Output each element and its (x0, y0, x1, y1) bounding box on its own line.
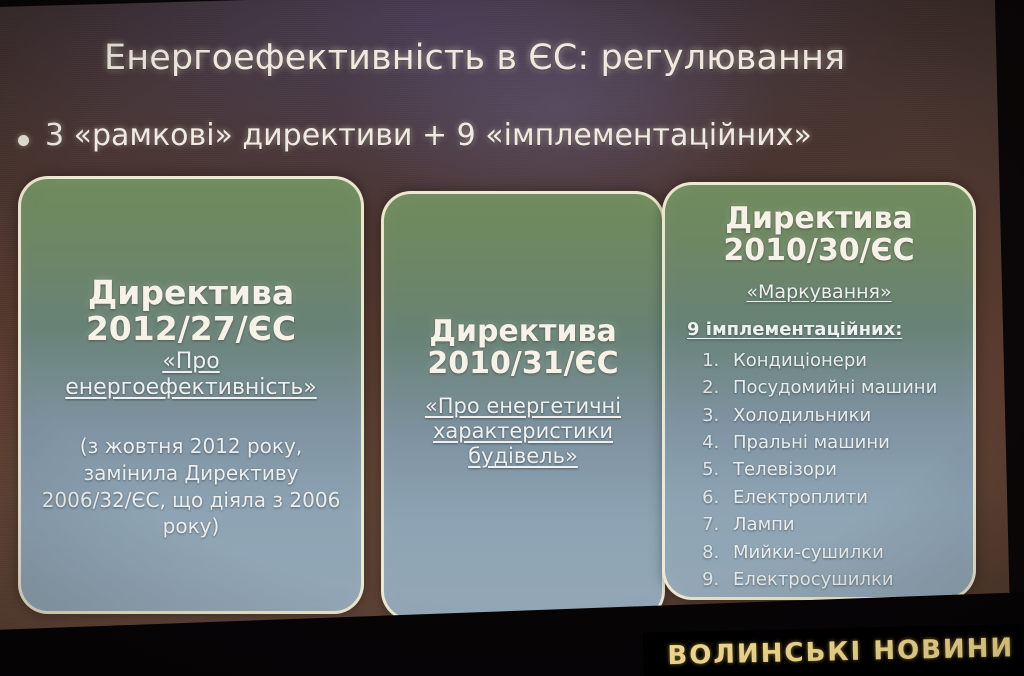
news-watermark-text: ВОЛИНСЬКІ НОВИНИ (667, 633, 1014, 671)
list-item: Електросушилки (725, 566, 965, 593)
directive-card-2010-31: Директива 2010/31/ЄС «Про енергетичні ха… (381, 191, 665, 621)
photo-of-projected-slide: Енергоефективність в ЄС: регулювання 3 «… (0, 0, 1024, 676)
slide-bullet-text: 3 «рамкові» директиви + 9 «імплементацій… (45, 118, 812, 153)
card3-implementing-list: КондиціонериПосудомийні машиниХолодильни… (695, 347, 965, 593)
slide-title: Енергоефективність в ЄС: регулювання (104, 38, 924, 78)
card1-heading-line1: Директива (21, 275, 361, 311)
bullet-dot-icon (18, 135, 29, 146)
card1-heading: Директива 2012/27/ЄС (21, 275, 361, 346)
card3-subtitle: «Маркування» (677, 281, 961, 304)
list-item: Кондиціонери (725, 347, 965, 374)
list-item: Лампи (725, 511, 965, 538)
card1-subtitle: «Про енергоефективність» (45, 349, 337, 402)
slide-bullet: 3 «рамкові» директиви + 9 «імплементацій… (18, 118, 958, 153)
card3-heading-line2: 2010/30/ЄС (665, 235, 973, 267)
card3-heading-line1: Директива (665, 203, 973, 235)
card2-subtitle: «Про енергетичні характеристики будівель… (396, 394, 650, 470)
news-watermark: ВОЛИНСЬКІ НОВИНИ (643, 624, 1024, 676)
card2-heading-line1: Директива (384, 316, 662, 348)
card3-heading: Директива 2010/30/ЄС (665, 203, 973, 268)
directive-card-2010-30: Директива 2010/30/ЄС «Маркування» 9 імпл… (662, 182, 976, 600)
card1-heading-line2: 2012/27/ЄС (21, 311, 361, 347)
list-item: Пральні машини (725, 429, 965, 456)
card2-heading: Директива 2010/31/ЄС (384, 316, 662, 381)
list-item: Холодильники (725, 402, 965, 429)
directive-card-2012-27: Директива 2012/27/ЄС «Про енергоефективн… (18, 176, 364, 614)
list-item: Посудомийні машини (725, 374, 965, 401)
card1-body: (з жовтня 2012 року, замінила Директиву … (37, 433, 345, 540)
list-item: Електроплити (725, 484, 965, 511)
card2-heading-line2: 2010/31/ЄС (384, 348, 662, 380)
card3-list-title: 9 імплементаційних: (687, 319, 902, 340)
list-item: Мийки-сушилки (725, 539, 965, 566)
list-item: Телевізори (725, 456, 965, 483)
